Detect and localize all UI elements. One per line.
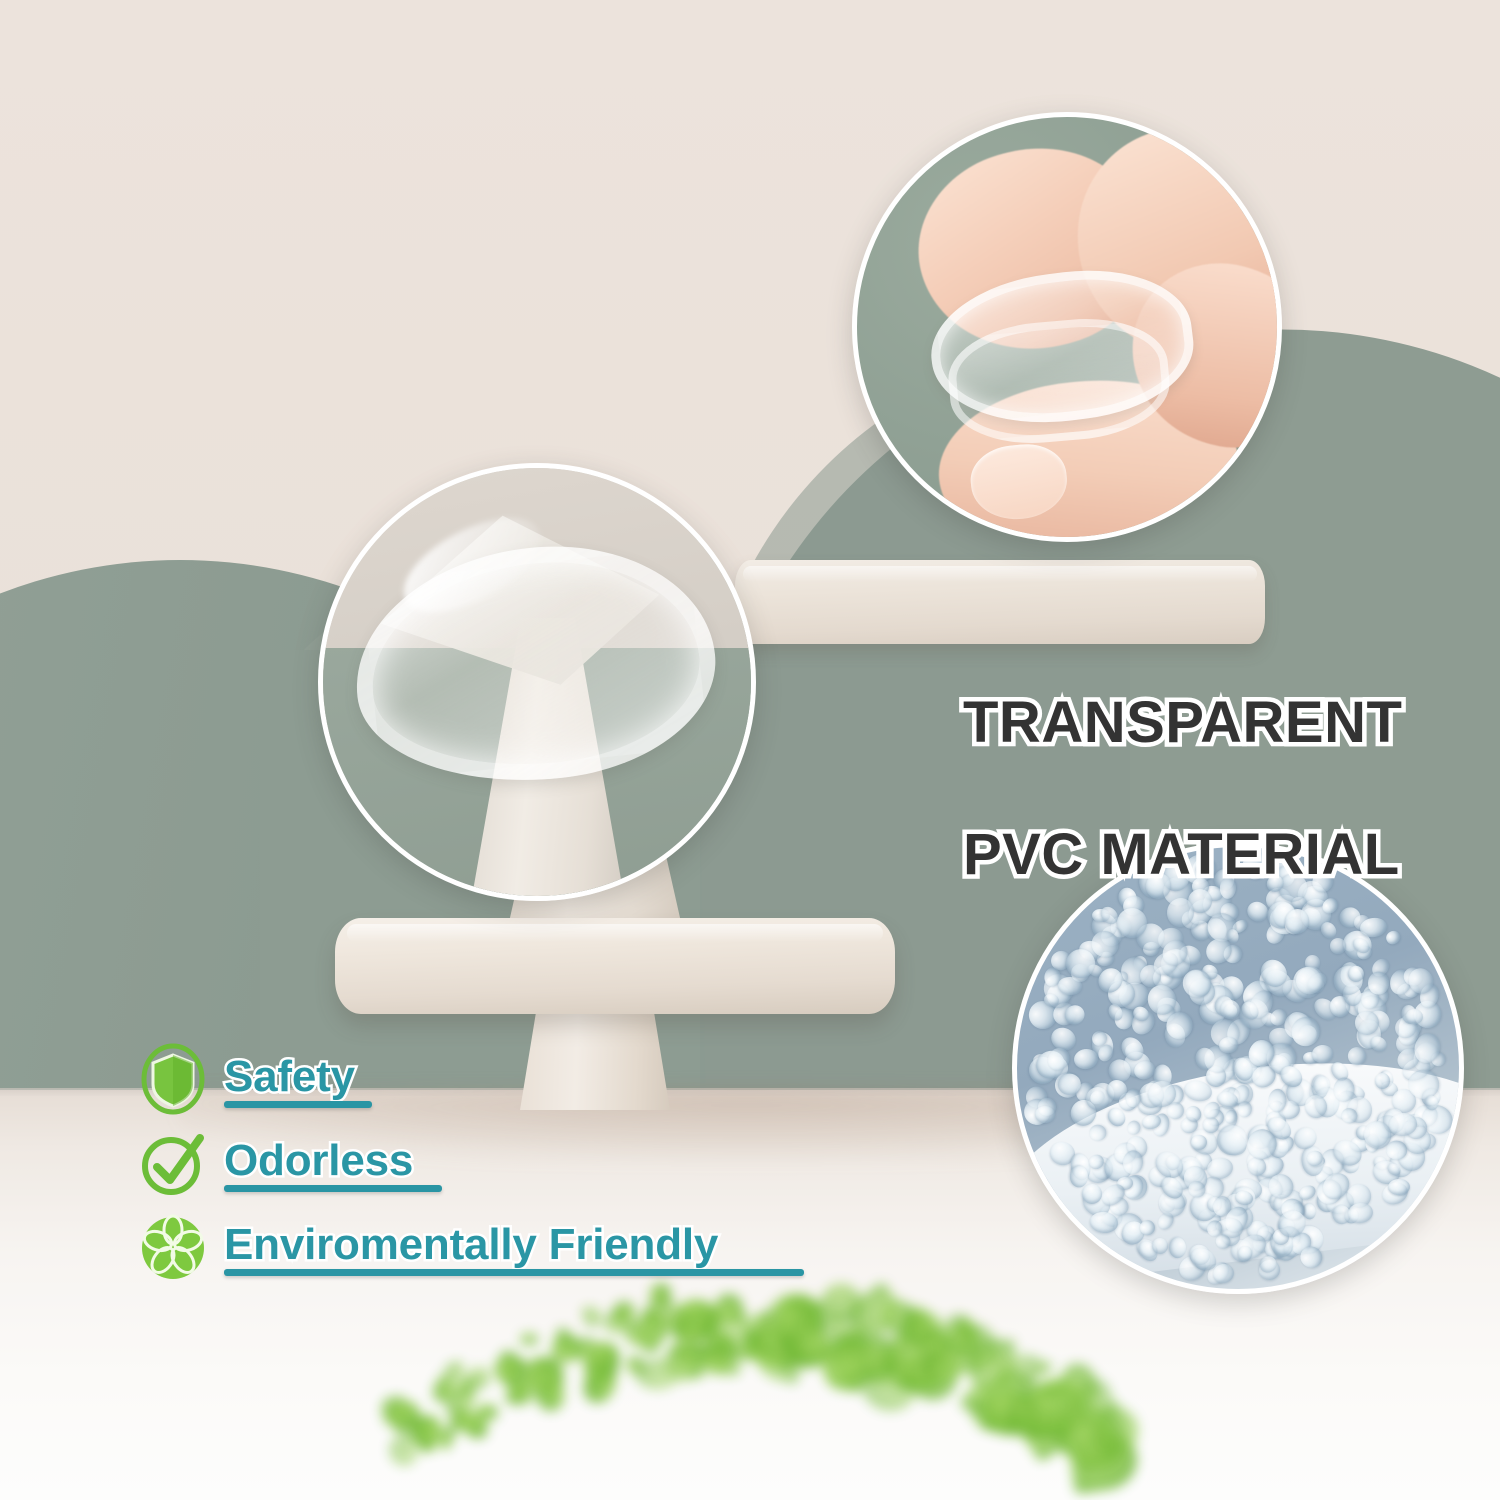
leaf — [521, 1332, 539, 1346]
pedestal-tabletop — [335, 918, 895, 1014]
pellet — [1236, 1101, 1253, 1119]
headline-line-1: TRANSPARENT — [963, 690, 1402, 755]
pellet — [1070, 1165, 1089, 1187]
pellet — [1368, 972, 1389, 995]
feature-item-safety: Safety — [140, 1040, 718, 1118]
feature-text-environmentally-friendly: Enviromentally Friendly — [224, 1220, 718, 1269]
pellet — [1290, 1016, 1321, 1048]
feature-item-odorless: Odorless — [140, 1124, 718, 1202]
feature-text-safety: Safety — [224, 1052, 355, 1101]
pellet — [1311, 1044, 1334, 1063]
feature-underline-odorless — [224, 1185, 442, 1192]
feature-underline-safety — [224, 1101, 372, 1108]
pellet — [1375, 1073, 1390, 1089]
pellet-cluster — [1017, 847, 1459, 1289]
feature-label-environmentally-friendly: Enviromentally Friendly — [224, 1220, 718, 1274]
check-circle-icon — [140, 1126, 206, 1200]
shield-icon — [140, 1042, 206, 1116]
feature-underline-environmentally-friendly — [224, 1269, 804, 1276]
inset-hand-holding-corner-guard — [852, 112, 1282, 542]
shelf-upper — [735, 560, 1265, 644]
inset-macro-corner-guard — [318, 463, 756, 901]
leaf — [786, 1300, 807, 1323]
page-title: TRANSPARENT PVC MATERIAL — [963, 690, 1402, 888]
feature-list: Safety Odorless — [140, 1040, 718, 1292]
pellet — [1035, 1106, 1055, 1123]
inset-pvc-pellets — [1012, 842, 1464, 1294]
feature-text-odorless: Odorless — [224, 1136, 413, 1185]
hand-illustration — [879, 145, 1279, 542]
pellet — [1089, 1124, 1107, 1140]
pellet — [1125, 1089, 1140, 1108]
feature-label-safety: Safety — [224, 1052, 355, 1106]
pellet — [1330, 938, 1346, 954]
leaf — [477, 1403, 500, 1421]
pellet — [1169, 1237, 1187, 1258]
leaf — [581, 1305, 601, 1328]
flower-icon — [140, 1210, 206, 1284]
feature-label-odorless: Odorless — [224, 1136, 413, 1190]
pellet — [1384, 928, 1403, 946]
pellet — [1126, 1120, 1142, 1136]
foliage-decoration — [380, 1270, 1100, 1500]
leaf — [539, 1357, 564, 1389]
leaf — [589, 1341, 619, 1371]
feature-item-environmentally-friendly: Enviromentally Friendly — [140, 1208, 718, 1286]
product-infographic: TRANSPARENT PVC MATERIAL Safety — [0, 0, 1500, 1500]
headline-line-2: PVC MATERIAL — [963, 822, 1400, 887]
